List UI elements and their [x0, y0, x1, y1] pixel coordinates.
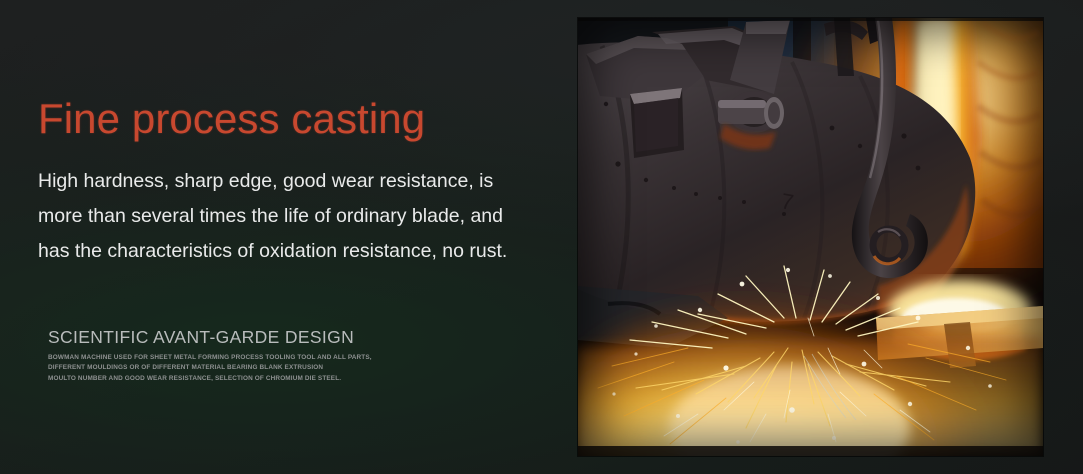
fineprint-block: BOWMAN MACHINE USED FOR SHEET METAL FORM… [48, 353, 448, 385]
text-column: Fine process casting High hardness, shar… [38, 96, 548, 269]
body-paragraph: High hardness, sharp edge, good wear res… [38, 164, 536, 269]
page-title: Fine process casting [38, 96, 548, 142]
fineprint-line-2: DIFFERENT MOULDINGS OR OF DIFFERENT MATE… [48, 363, 448, 374]
foundry-photo: 7 [578, 18, 1043, 456]
fineprint-line-1: BOWMAN MACHINE USED FOR SHEET METAL FORM… [48, 353, 448, 364]
sub-text-block: SCIENTIFIC AVANT-GARDE DESIGN BOWMAN MAC… [48, 327, 448, 385]
fineprint-line-3: MOULTO NUMBER AND GOOD WEAR RESISTANCE, … [48, 374, 448, 385]
subtitle: SCIENTIFIC AVANT-GARDE DESIGN [48, 327, 448, 349]
foundry-photo-illustration: 7 [578, 18, 1043, 456]
slide-canvas: Fine process casting High hardness, shar… [0, 0, 1083, 474]
